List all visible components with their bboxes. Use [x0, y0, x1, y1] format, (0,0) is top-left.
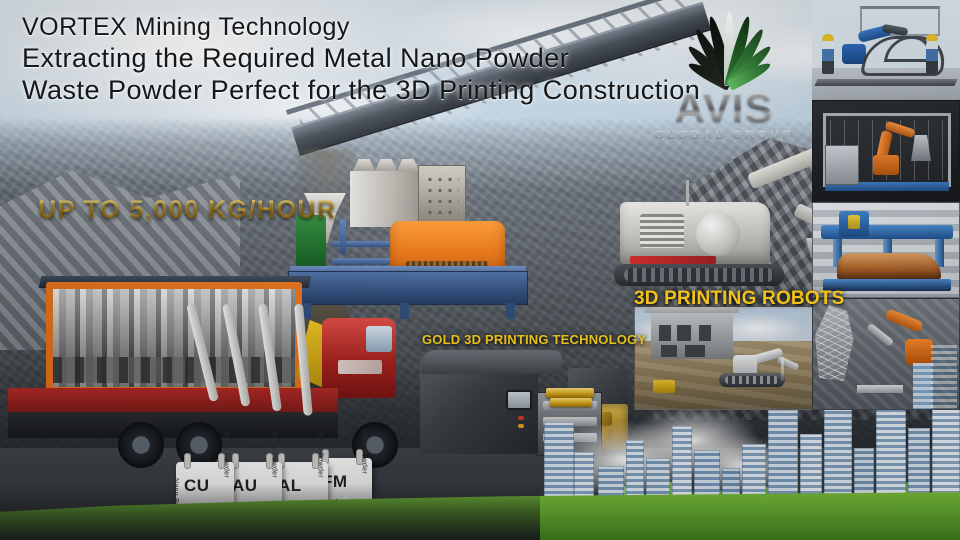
- tanker-container-truck: [0, 272, 420, 462]
- panel-gantry-car-printing: [812, 202, 960, 298]
- gold-printing-label: GOLD 3D PRINTING TECHNOLOGY: [422, 332, 646, 347]
- panel-tower: [931, 345, 957, 409]
- crusher-grill: [640, 214, 684, 248]
- print-slab: [857, 385, 903, 393]
- avis-logo: AVIS GLOBAL GROUP: [640, 6, 808, 146]
- worker: [926, 40, 938, 74]
- tracked-printing-robot: [719, 353, 797, 387]
- extrusion-jet: [781, 357, 784, 381]
- leaf-icon: [682, 6, 766, 92]
- truck-chassis: [8, 388, 338, 414]
- avis-tagline: GLOBAL GROUP: [640, 128, 808, 142]
- headline-line-2: Extracting the Required Metal Nano Powde…: [22, 42, 700, 74]
- plant-pipe: [340, 219, 346, 255]
- headline-line-1: VORTEX Mining Technology: [22, 12, 700, 42]
- capacity-label: UP TO 5,000 KG/HOUR: [38, 196, 337, 225]
- truck-cab: [322, 318, 396, 398]
- bag-strap: [184, 453, 191, 469]
- headline-block: VORTEX Mining Technology Extracting the …: [22, 12, 700, 106]
- panel-robot-cell: [812, 100, 960, 202]
- promo-banner: VORTEX Mining Technology Extracting the …: [0, 0, 960, 540]
- printer-touchscreen[interactable]: [506, 390, 532, 410]
- printed-car-body: [837, 253, 941, 281]
- panel-construction-robots: [634, 306, 820, 410]
- orange-printing-arm: [875, 309, 937, 371]
- cab-logo: [338, 360, 382, 374]
- print-head: [839, 211, 869, 237]
- printer-top-lid: [421, 350, 564, 374]
- tank-shading: [53, 289, 295, 387]
- bag-product-label: Nano Powder: [361, 428, 368, 474]
- worker: [822, 40, 834, 74]
- orange-robot-arm: [867, 123, 911, 175]
- truck-deck: [8, 412, 338, 438]
- printer-status-led: [518, 424, 524, 428]
- bag-product-label: Nano Powder: [271, 432, 278, 478]
- avis-wordmark: AVIS: [640, 86, 808, 130]
- headline-line-3: Waste Powder Perfect for the 3D Printing…: [22, 74, 700, 106]
- bag-product-label: Nano Powder: [317, 432, 324, 478]
- site-generator: [653, 380, 675, 393]
- printed-house: [651, 311, 733, 359]
- bag-product-label: Nano Powder: [223, 432, 230, 478]
- crusher-drum: [696, 212, 740, 256]
- printer-status-led: [518, 416, 524, 420]
- panel-rail: [814, 79, 957, 86]
- cab-window: [366, 326, 392, 352]
- mobile-crusher-excavator: [600, 168, 830, 298]
- control-cabinet: [825, 145, 859, 185]
- crusher-mast: [686, 180, 689, 206]
- panel-tower: [913, 363, 933, 409]
- panel-lattice-printing: [812, 298, 960, 410]
- plant-leg: [506, 303, 515, 319]
- crusher-stripe: [630, 256, 716, 264]
- crusher-track: [614, 264, 784, 286]
- foreground-shadow: [0, 484, 540, 540]
- truck-wheel: [118, 422, 164, 468]
- robots-panel-label: 3D PRINTING ROBOTS: [634, 288, 845, 310]
- plant-tower: [350, 171, 426, 227]
- panel-car-frame-printing: [812, 0, 960, 100]
